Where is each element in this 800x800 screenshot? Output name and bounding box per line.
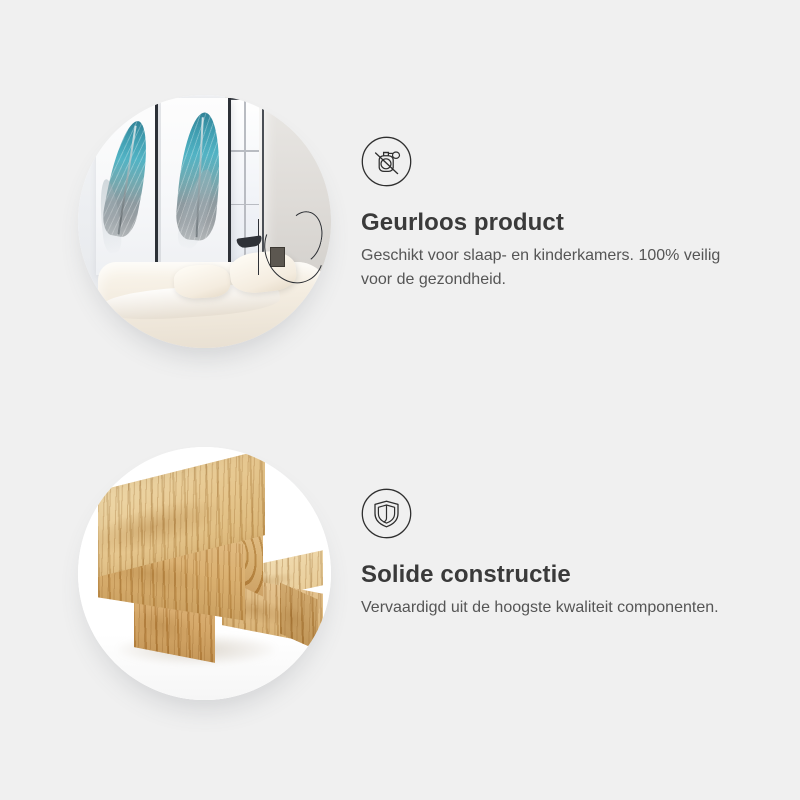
- feature-block-odourless-product: Geurloos product Geschikt voor slaap- en…: [0, 46, 800, 396]
- product-feature-page: Geurloos product Geschikt voor slaap- en…: [0, 0, 800, 800]
- bedroom-scene: [78, 95, 331, 348]
- wall-art-panel-2: [161, 98, 229, 275]
- wooden-beam-blocks-photo: [78, 447, 331, 700]
- feature-block-solid-construction: Solide constructie Vervaardigd uit de ho…: [0, 398, 800, 748]
- panel-frame-edge: [228, 98, 231, 275]
- pillow: [173, 263, 230, 299]
- feature-title: Geurloos product: [361, 208, 761, 238]
- feature-description: Geschikt voor slaap- en kinderkamers. 10…: [361, 244, 753, 292]
- shield-icon: [361, 488, 412, 539]
- wall-art-panel-1: [96, 98, 157, 275]
- feature-title: Solide constructie: [361, 560, 761, 590]
- panel-frame-edge: [155, 98, 158, 275]
- bedroom-feather-wall-art-photo: [78, 95, 331, 348]
- bedside-lamp-stem: [258, 219, 260, 275]
- feature-description: Vervaardigd uit de hoogste kwaliteit com…: [361, 596, 753, 620]
- wood-scene: [78, 447, 331, 700]
- no-perfume-icon: [361, 136, 412, 187]
